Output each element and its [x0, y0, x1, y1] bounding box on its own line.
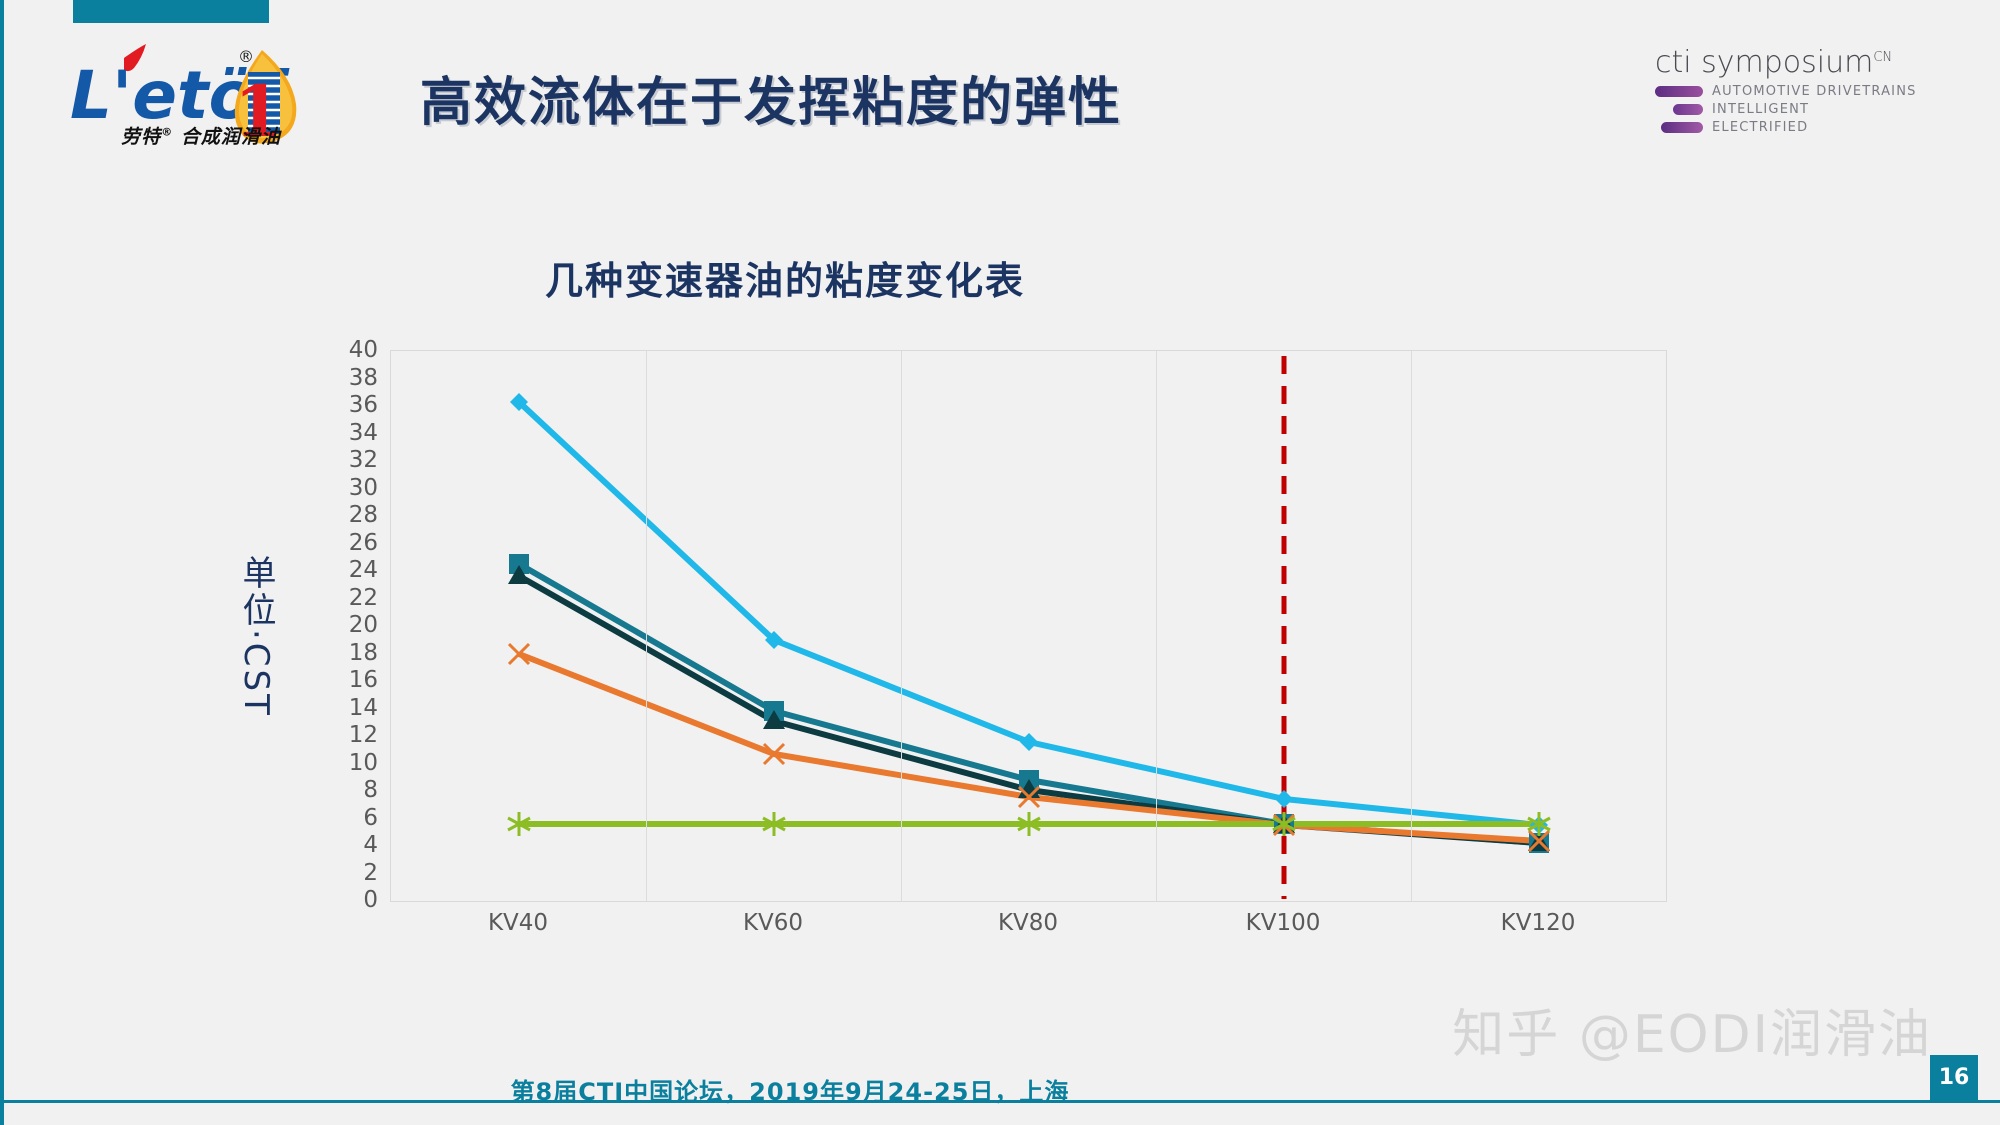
y-axis-tick: 10	[318, 750, 378, 776]
cti-tagline-row-3: ELECTRIFIED	[1655, 120, 1955, 135]
y-axis-tick: 8	[318, 777, 378, 803]
series-marker	[1275, 790, 1293, 808]
cti-symposium-logo: cti symposiumCN AUTOMOTIVE DRIVETRAINS I…	[1655, 48, 1955, 138]
y-axis-tick: 36	[318, 392, 378, 418]
y-axis-tick: 24	[318, 557, 378, 583]
y-axis-tick: 6	[318, 805, 378, 831]
slide-footer: 第8届CTI中国论坛，2019年9月24-25日，上海	[0, 1072, 2000, 1107]
y-axis-tick: 34	[318, 420, 378, 446]
y-axis-tick: 32	[318, 447, 378, 473]
page-number-badge: 16	[1930, 1055, 1978, 1100]
cti-taglines: AUTOMOTIVE DRIVETRAINS INTELLIGENT ELECT…	[1655, 84, 1955, 135]
y-axis-tick: 38	[318, 365, 378, 391]
x-axis-tick: KV80	[938, 910, 1118, 936]
cti-tagline-1: AUTOMOTIVE DRIVETRAINS	[1712, 84, 1917, 99]
y-axis-tick: 28	[318, 502, 378, 528]
cti-tagline-2: INTELLIGENT	[1712, 102, 1809, 117]
pill-icon	[1661, 122, 1703, 133]
pill-icon	[1673, 104, 1703, 115]
series-line	[519, 576, 1539, 843]
y-axis-tick: 12	[318, 722, 378, 748]
cti-wordmark-text: cti symposium	[1655, 45, 1873, 80]
cti-wordmark: cti symposiumCN	[1655, 48, 1955, 78]
grid-line	[646, 351, 647, 901]
y-axis-tick: 16	[318, 667, 378, 693]
y-axis-tick: 14	[318, 695, 378, 721]
grid-line	[901, 351, 902, 901]
logo-subtitle-category: 合成润滑油	[181, 126, 281, 148]
cti-tagline-row-1: AUTOMOTIVE DRIVETRAINS	[1655, 84, 1955, 99]
x-axis-tick: KV100	[1193, 910, 1373, 936]
logo-subtitle: 劳特® 合成润滑油	[76, 122, 326, 149]
logo-registered-mark: ®	[161, 126, 173, 139]
chart-title: 几种变速器油的粘度变化表	[0, 250, 2000, 305]
y-axis-tick: 0	[318, 887, 378, 913]
footer-text: 第8届CTI中国论坛，2019年9月24-25日，上海	[511, 1078, 1070, 1106]
slide-canvas: L'etöf 1 ® 劳特® 合成润滑油 高效流体在于发挥粘度的弹性 ct	[0, 0, 2000, 1125]
page-title: 高效流体在于发挥粘度的弹性	[420, 60, 1122, 135]
y-axis-tick: 18	[318, 640, 378, 666]
series-marker	[1020, 733, 1038, 751]
series-line	[519, 564, 1539, 843]
y-axis-tick: 40	[318, 337, 378, 363]
y-axis-tick: 2	[318, 860, 378, 886]
grid-line	[1156, 351, 1157, 901]
x-axis-tick: KV120	[1448, 910, 1628, 936]
top-accent-bar	[73, 0, 269, 23]
y-axis-tick: 22	[318, 585, 378, 611]
cti-tagline-row-2: INTELLIGENT	[1655, 102, 1955, 117]
x-axis-tick: KV60	[683, 910, 863, 936]
cti-tagline-3: ELECTRIFIED	[1712, 120, 1808, 135]
chart-y-axis-label: 单位·CST	[232, 555, 281, 718]
pill-icon	[1655, 86, 1703, 97]
series-line	[519, 402, 1539, 825]
chart-title-text: 几种变速器油的粘度变化表	[545, 259, 1025, 303]
y-axis-tick: 30	[318, 475, 378, 501]
chart-series-layer	[391, 351, 1666, 901]
left-accent-edge	[0, 0, 4, 1125]
y-axis-tick: 20	[318, 612, 378, 638]
y-axis-tick: 4	[318, 832, 378, 858]
logo-subtitle-brand: 劳特	[121, 126, 161, 148]
chart-plot-area	[390, 350, 1667, 902]
cti-wordmark-superscript: CN	[1873, 50, 1892, 65]
watermark: 知乎 @EODI润滑油	[1452, 992, 1932, 1067]
y-axis-tick: 26	[318, 530, 378, 556]
x-axis-tick: KV40	[428, 910, 608, 936]
grid-line	[1411, 351, 1412, 901]
svg-text:®: ®	[238, 47, 254, 66]
